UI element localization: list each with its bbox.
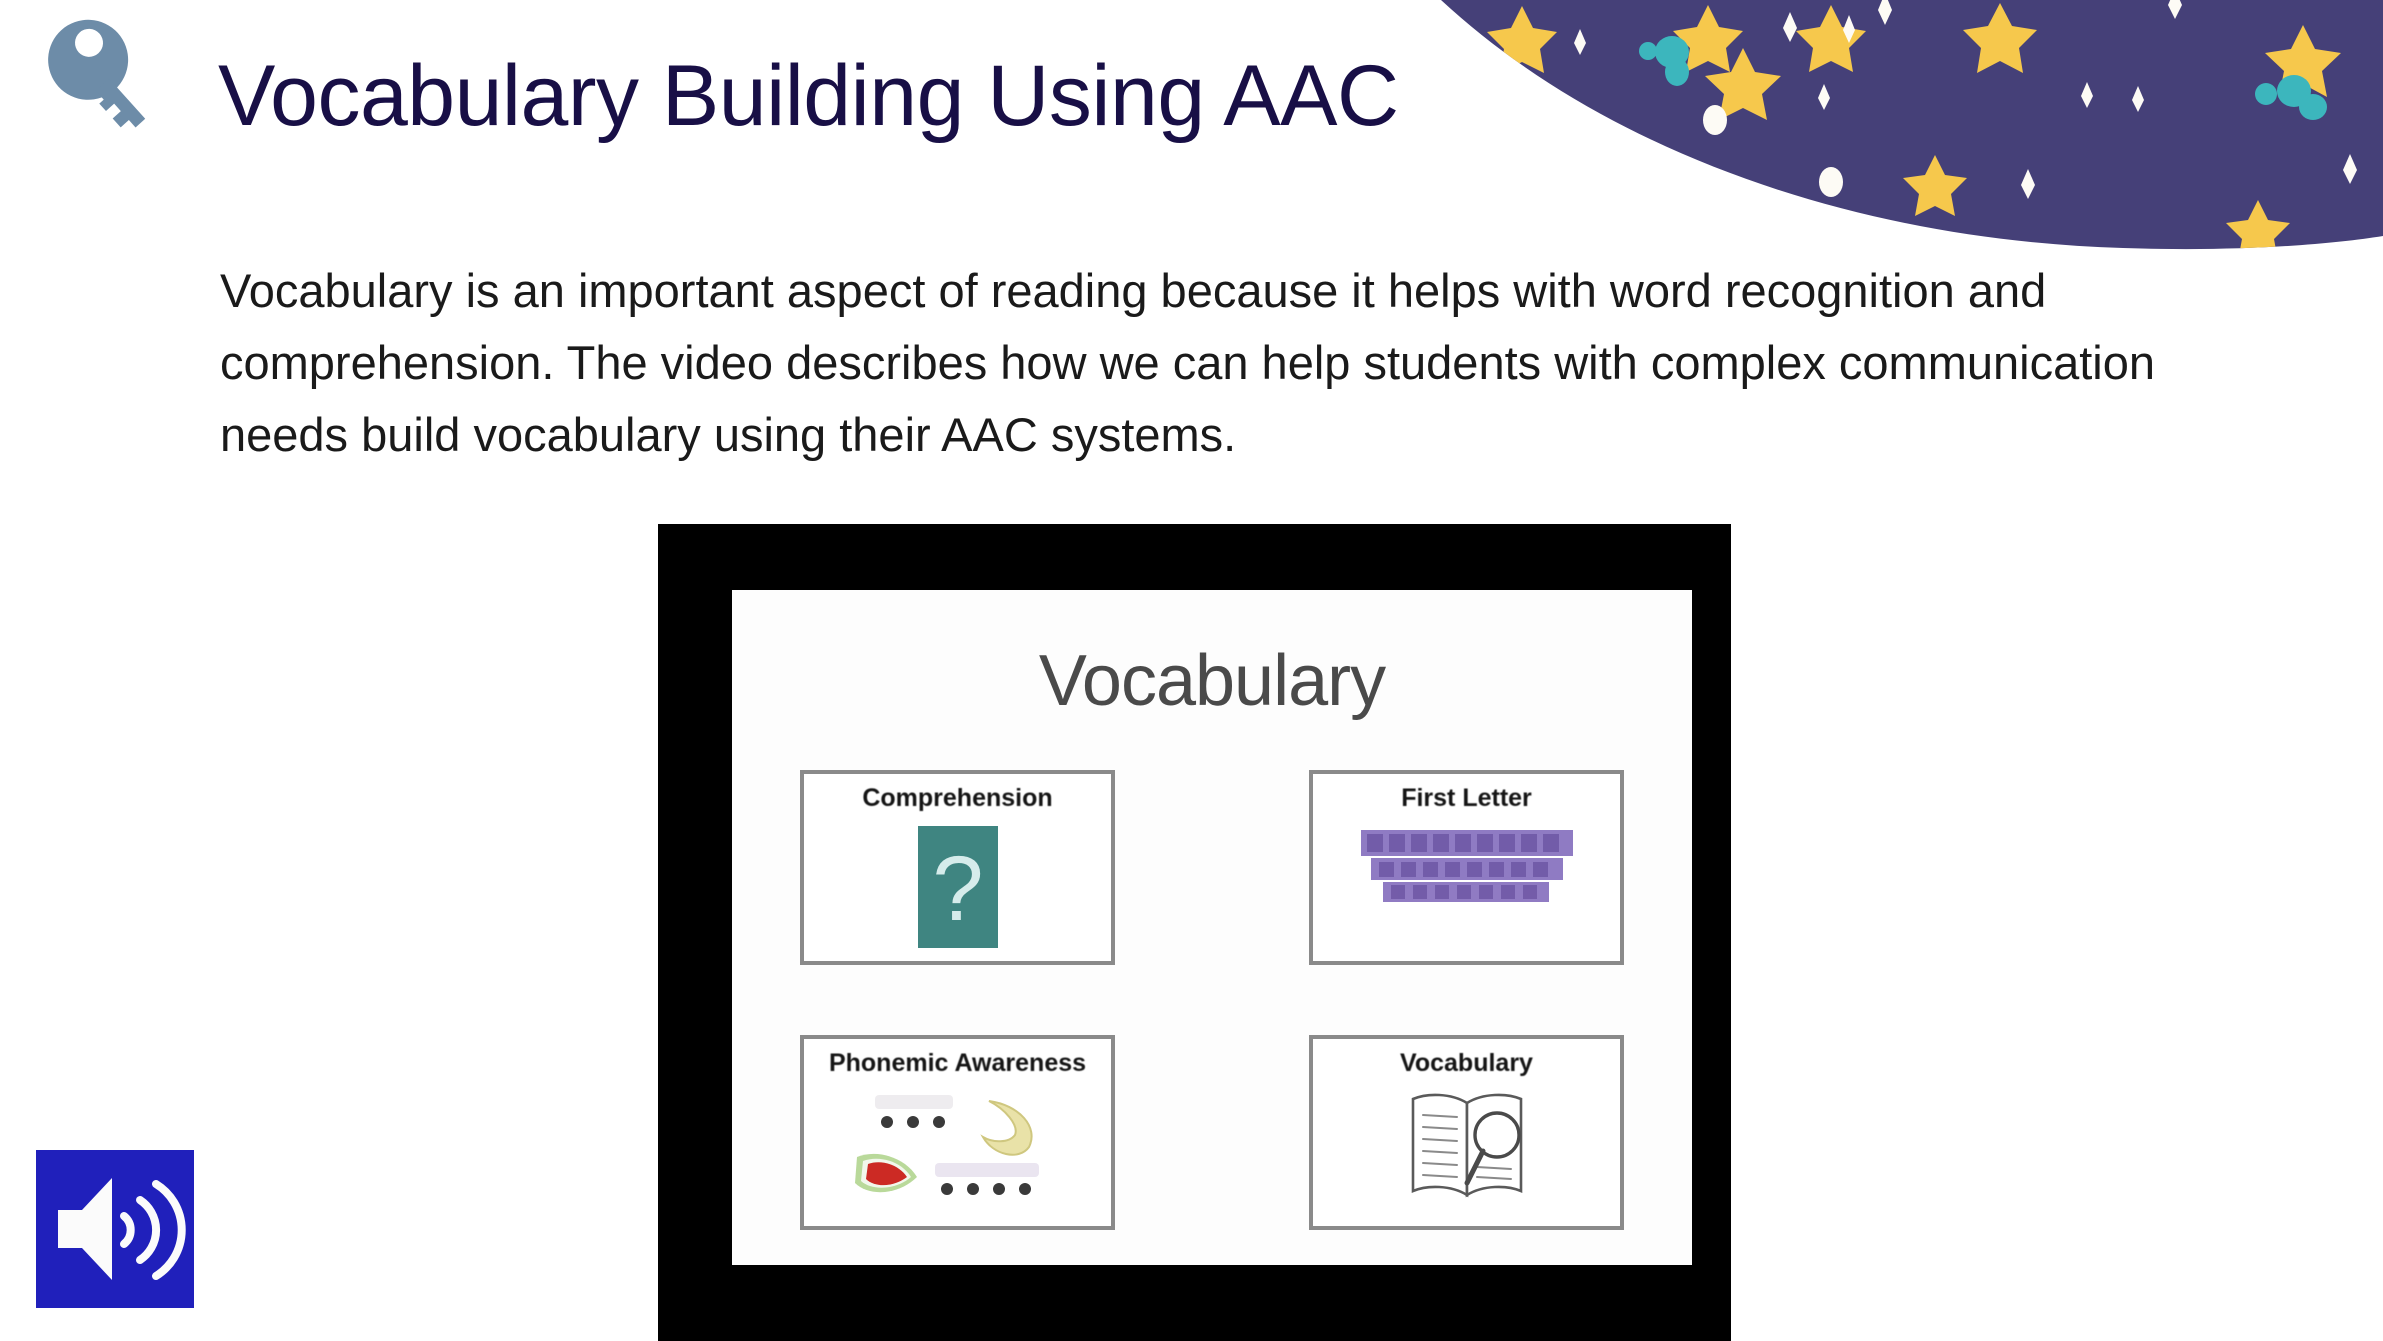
video-heading: Vocabulary	[732, 640, 1692, 722]
open-book-magnifier-icon	[1313, 1087, 1620, 1227]
svg-text:?: ?	[932, 838, 983, 940]
video-frame-content: Vocabulary Comprehension ? First Letter	[732, 590, 1692, 1265]
video-card-comprehension: Comprehension ?	[800, 770, 1115, 965]
dot-shape	[1703, 105, 1843, 197]
fruit-syllable-dots-icon	[804, 1087, 1111, 1227]
teal-dot-shape	[1639, 36, 2327, 120]
question-mark-teal-icon: ?	[804, 822, 1111, 962]
video-card-label: First Letter	[1313, 784, 1620, 813]
video-card-label: Comprehension	[804, 784, 1111, 813]
star-shape	[1487, 3, 2341, 261]
audio-play-button[interactable]	[36, 1150, 194, 1308]
page-title: Vocabulary Building Using AAC	[218, 48, 1399, 144]
video-player[interactable]: Vocabulary Comprehension ? First Letter	[658, 524, 1731, 1341]
sparkle-shape	[1574, 0, 2357, 199]
video-card-vocabulary: Vocabulary	[1309, 1035, 1624, 1230]
key-icon	[12, 14, 172, 174]
video-card-label: Phonemic Awareness	[804, 1049, 1111, 1078]
video-card-phonemic-awareness: Phonemic Awareness	[800, 1035, 1115, 1230]
video-card-first-letter: First Letter	[1309, 770, 1624, 965]
video-card-label: Vocabulary	[1313, 1049, 1620, 1078]
video-card-grid: Comprehension ? First Letter	[792, 770, 1632, 1230]
speaker-icon	[36, 1150, 194, 1308]
purple-keyboard-icon	[1313, 822, 1620, 962]
body-paragraph: Vocabulary is an important aspect of rea…	[220, 255, 2265, 471]
slide-canvas: Vocabulary Building Using AAC Vocabulary…	[0, 0, 2383, 1341]
